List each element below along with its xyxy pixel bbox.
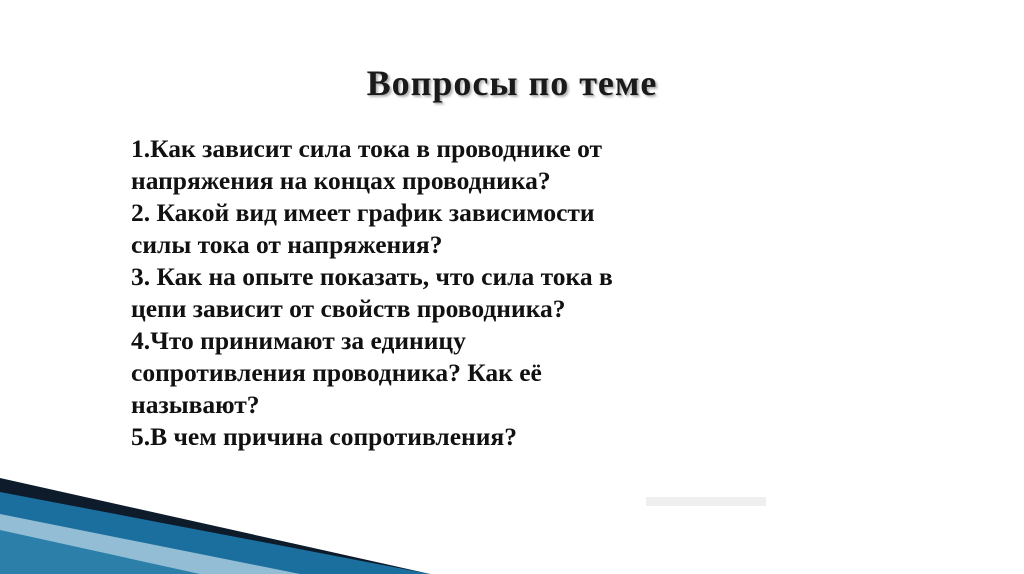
slide-content-area: Вопросы по теме 1.Как зависит сила тока … [58, 0, 966, 574]
question-list: 1.Как зависит сила тока в проводнике от … [131, 133, 931, 453]
page-edge-left [0, 0, 58, 574]
list-item: 3. Как на опыте показать, что сила тока … [131, 261, 931, 325]
list-item: 4.Что принимают за единицу сопротивления… [131, 325, 931, 421]
list-item: 5.В чем причина сопротивления? [131, 421, 931, 453]
slide-title: Вопросы по теме [58, 62, 966, 104]
page-edge-right [966, 0, 1024, 574]
list-item: 2. Какой вид имеет график зависимости си… [131, 197, 931, 261]
slide-canvas: Вопросы по теме 1.Как зависит сила тока … [0, 0, 1024, 574]
footer-placeholder [646, 497, 766, 506]
list-item: 1.Как зависит сила тока в проводнике от … [131, 133, 931, 197]
